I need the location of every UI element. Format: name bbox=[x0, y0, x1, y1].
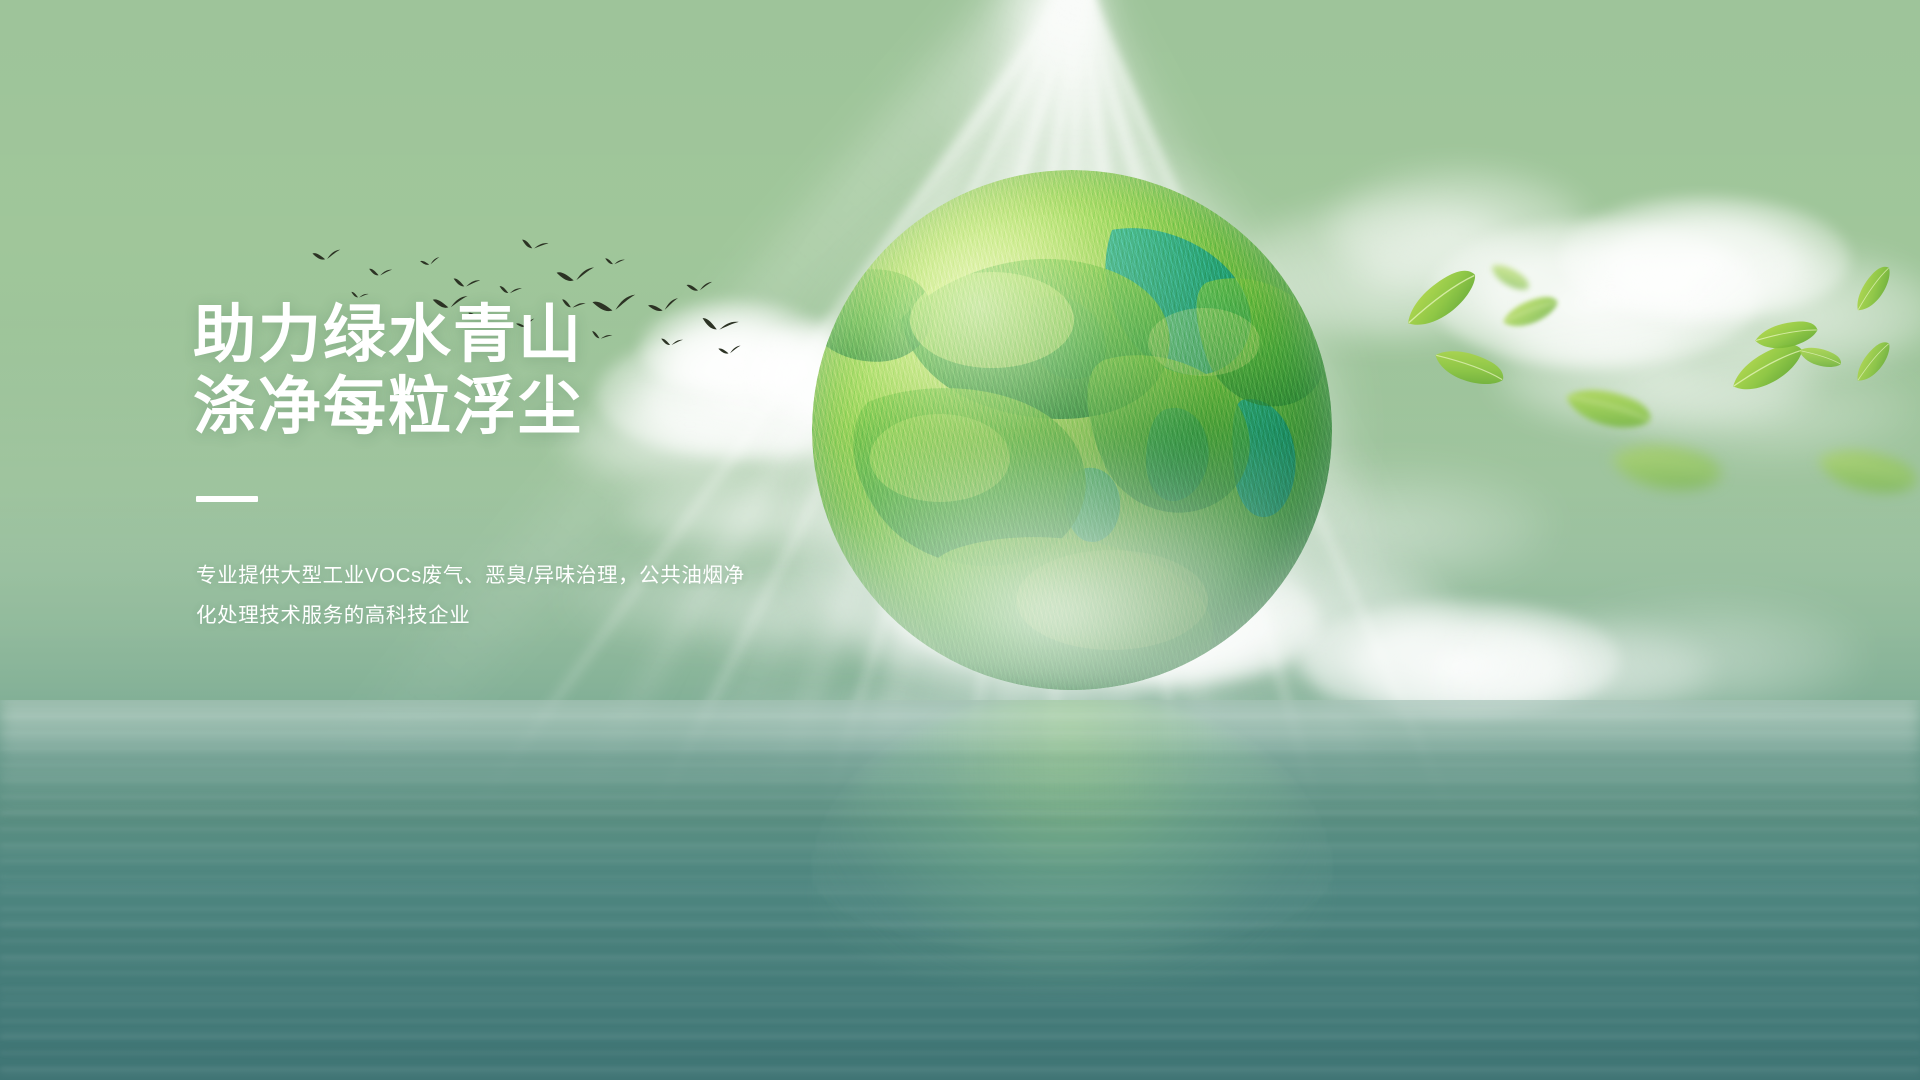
headline-line-1: 助力绿水青山 bbox=[193, 300, 953, 372]
subtitle-line-2: 化处理技术服务的高科技企业 bbox=[196, 596, 953, 636]
headline-line-2: 涤净每粒浮尘 bbox=[193, 372, 953, 444]
hero-banner: 助力绿水青山 涤净每粒浮尘 专业提供大型工业VOCs废气、恶臭/异味治理，公共油… bbox=[0, 0, 1920, 1080]
page-title: 助力绿水青山 涤净每粒浮尘 bbox=[193, 300, 953, 444]
subtitle-line-1: 专业提供大型工业VOCs废气、恶臭/异味治理，公共油烟净 bbox=[196, 556, 953, 596]
water-ripples-broad bbox=[0, 700, 1920, 1080]
banner-subtitle: 专业提供大型工业VOCs废气、恶臭/异味治理，公共油烟净 化处理技术服务的高科技… bbox=[196, 556, 953, 636]
water-surface bbox=[0, 700, 1920, 1080]
banner-copy: 助力绿水青山 涤净每粒浮尘 专业提供大型工业VOCs废气、恶臭/异味治理，公共油… bbox=[193, 300, 953, 636]
divider bbox=[196, 496, 258, 502]
